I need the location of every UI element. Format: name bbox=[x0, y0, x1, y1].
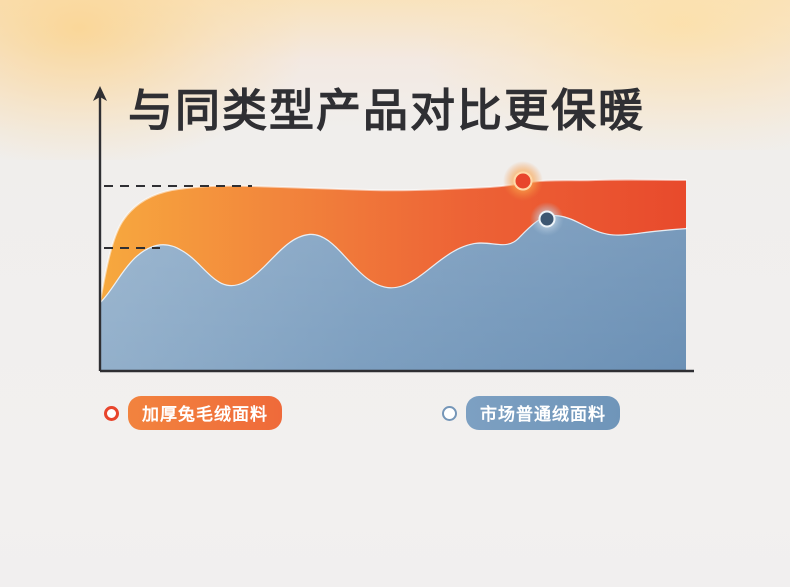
cool-highlight-point[interactable] bbox=[540, 212, 555, 227]
legend-item-label: 市场普通绒面料 bbox=[466, 396, 620, 430]
legend-item-warm[interactable]: 加厚兔毛绒面料 bbox=[104, 396, 282, 430]
promo-chart-page: 与同类型产品对比更保暖 bbox=[0, 0, 790, 587]
circle-outline-marker-icon bbox=[104, 406, 119, 421]
circle-outline-marker-icon bbox=[442, 406, 457, 421]
legend-item-cool[interactable]: 市场普通绒面料 bbox=[442, 396, 620, 430]
warm-highlight-point[interactable] bbox=[515, 173, 532, 190]
comparison-area-chart bbox=[0, 0, 790, 587]
chart-legend: 加厚兔毛绒面料 市场普通绒面料 bbox=[98, 396, 698, 430]
legend-item-label: 加厚兔毛绒面料 bbox=[128, 396, 282, 430]
